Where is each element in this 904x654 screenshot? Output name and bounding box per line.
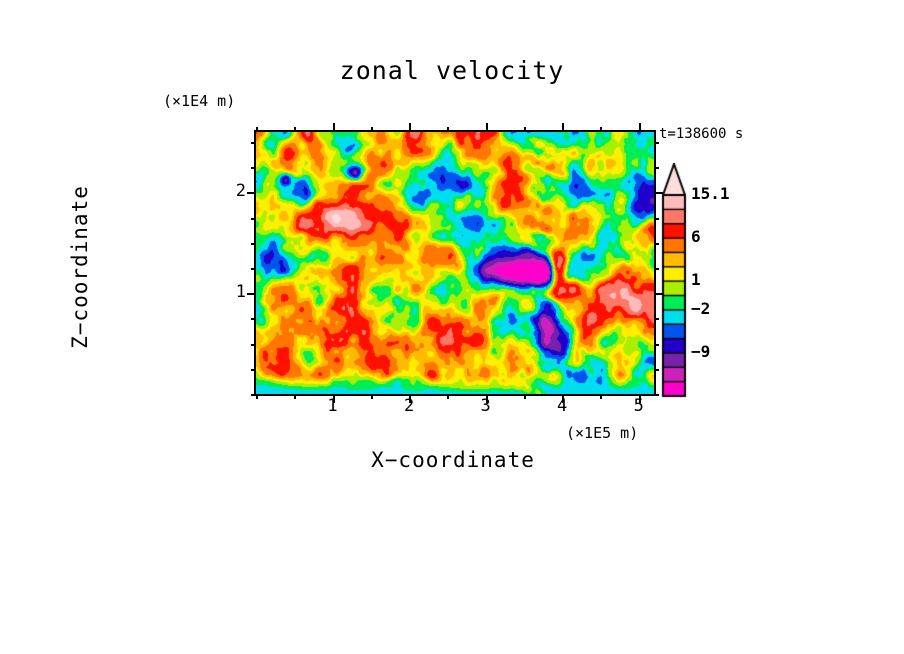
axis-tick-y-right xyxy=(654,268,659,270)
axis-tick-x-top xyxy=(256,127,258,132)
axis-tick-y-right xyxy=(654,344,659,346)
x-tick-label: 4 xyxy=(547,396,577,416)
colorbar-tick-label: 15.1 xyxy=(691,184,730,203)
axis-tick-x xyxy=(447,394,449,399)
axis-tick-x-top xyxy=(562,123,564,132)
axis-tick-y-right xyxy=(654,394,659,396)
axis-tick-y-right xyxy=(654,218,659,220)
axis-tick-y xyxy=(251,243,256,245)
axis-tick-x xyxy=(294,394,296,399)
axis-tick-x-top xyxy=(371,127,373,132)
axis-tick-x-top xyxy=(333,123,335,132)
y-tick-label: 2 xyxy=(216,181,246,201)
axis-tick-y-right xyxy=(654,243,659,245)
axis-tick-x xyxy=(600,394,602,399)
x-tick-label: 1 xyxy=(318,396,348,416)
axis-tick-x xyxy=(256,394,258,399)
axis-tick-x-top xyxy=(409,123,411,132)
colorbar-tick-label: −2 xyxy=(691,299,710,318)
y-axis-title: Z−coordinate xyxy=(68,127,92,407)
axis-tick-x-top xyxy=(600,127,602,132)
colorbar: 15.161−2−9 xyxy=(661,163,781,398)
axis-tick-y xyxy=(251,167,256,169)
axis-tick-y xyxy=(247,192,256,194)
axis-tick-y xyxy=(251,318,256,320)
axis-tick-x-top xyxy=(294,127,296,132)
axis-tick-y xyxy=(251,218,256,220)
colorbar-tick-label: −9 xyxy=(691,342,710,361)
axis-tick-y-right xyxy=(654,318,659,320)
x-axis-units-label: (×1E5 m) xyxy=(566,424,638,442)
axis-tick-x xyxy=(524,394,526,399)
axis-tick-y-right xyxy=(654,142,659,144)
x-tick-label: 5 xyxy=(624,396,654,416)
colorbar-tick-label: 6 xyxy=(691,227,701,246)
axis-tick-x-top xyxy=(447,127,449,132)
colorbar-tick-label: 1 xyxy=(691,270,701,289)
x-axis-title: X−coordinate xyxy=(254,448,652,472)
page-title: zonal velocity xyxy=(0,56,904,85)
axis-tick-y xyxy=(251,142,256,144)
axis-tick-x-top xyxy=(524,127,526,132)
axis-tick-x xyxy=(371,394,373,399)
contour-field-canvas xyxy=(256,132,654,394)
axis-tick-y xyxy=(251,394,256,396)
axis-tick-x-top xyxy=(486,123,488,132)
axis-tick-y-right xyxy=(654,167,659,169)
contour-plot-area xyxy=(254,130,656,396)
axis-tick-y xyxy=(251,268,256,270)
x-tick-label: 2 xyxy=(394,396,424,416)
timestamp-annotation: t=138600 s xyxy=(659,126,743,142)
axis-tick-x-top xyxy=(639,123,641,132)
y-tick-label: 1 xyxy=(216,282,246,302)
x-tick-label: 3 xyxy=(471,396,501,416)
axis-tick-y-right xyxy=(654,369,659,371)
y-axis-units-label: (×1E4 m) xyxy=(163,92,235,110)
axis-tick-y xyxy=(251,344,256,346)
axis-tick-y xyxy=(247,293,256,295)
axis-tick-y xyxy=(251,369,256,371)
